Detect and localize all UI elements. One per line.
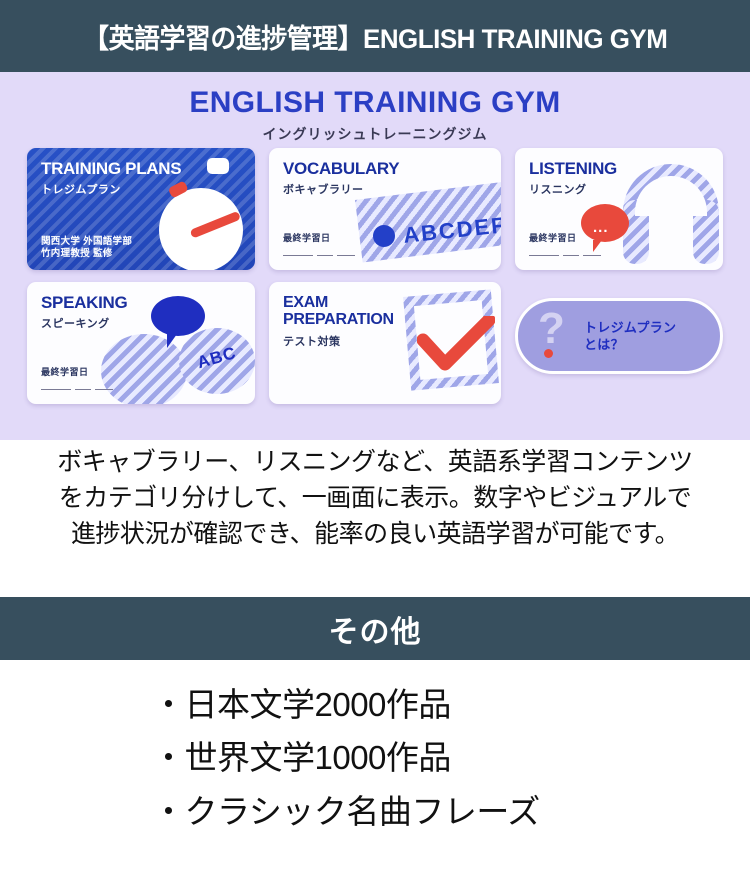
question-mark-icon: ? (538, 307, 565, 351)
brand-block: ENGLISH TRAINING GYM イングリッシュトレーニングジム (0, 72, 750, 144)
card-title: SPEAKING (41, 294, 127, 311)
question-mark-dot-icon (544, 349, 553, 358)
list-item: ・世界文学1000作品 (152, 731, 750, 784)
card-exam-preparation[interactable]: EXAM PREPARATION テスト対策 (269, 282, 501, 404)
card-row: ABC SPEAKING スピーキング 最終学習日 EXAM PREPARAT (27, 282, 723, 404)
what-is-trejim-plan-button[interactable]: ? トレジムプラン とは？ (515, 298, 723, 374)
last-study-date (41, 384, 117, 394)
card-grid: TRAINING PLANS トレジムプラン 関西大学 外国語学部 竹内理教授 … (27, 148, 723, 416)
last-study-label: 最終学習日 (283, 231, 331, 244)
card-credit: 関西大学 外国語学部 竹内理教授 監修 (41, 236, 132, 260)
speech-bubble-icon (151, 296, 205, 336)
description-line1: ボキャブラリー、リスニングなど、英語系学習コンテンツ (0, 444, 750, 480)
card-subtitle: トレジムプラン (41, 181, 121, 197)
card-row: TRAINING PLANS トレジムプラン 関西大学 外国語学部 竹内理教授 … (27, 148, 723, 270)
page-header: 【英語学習の進捗管理】ENGLISH TRAINING GYM (0, 0, 750, 72)
speech-bubble-dots: ... (593, 219, 609, 236)
question-button-line1: トレジムプラン (584, 319, 676, 336)
brand-title-jp: イングリッシュトレーニングジム (0, 124, 750, 144)
other-section-list: ・日本文学2000作品 ・世界文学1000作品 ・クラシック名曲フレーズ (0, 678, 750, 838)
card-subtitle: ボキャブラリー (283, 181, 364, 197)
card-training-plans[interactable]: TRAINING PLANS トレジムプラン 関西大学 外国語学部 竹内理教授 … (27, 148, 255, 270)
card-title: LISTENING (529, 160, 617, 177)
card-title: VOCABULARY (283, 160, 399, 177)
feature-panel: ENGLISH TRAINING GYM イングリッシュトレーニングジム TRA… (0, 72, 750, 440)
question-button-line2: とは？ (584, 336, 676, 353)
last-study-date (529, 250, 605, 260)
card-credit-line2: 竹内理教授 監修 (41, 248, 132, 260)
other-section-header: その他 (0, 597, 750, 660)
question-button-label: トレジムプラン とは？ (584, 319, 676, 353)
page-title: 【英語学習の進捗管理】ENGLISH TRAINING GYM (83, 17, 667, 56)
last-study-date (283, 250, 359, 260)
card-credit-line1: 関西大学 外国語学部 (41, 236, 132, 248)
description-line3: 進捗状況が確認でき、能率の良い英語学習が可能です。 (0, 516, 750, 552)
card-subtitle: スピーキング (41, 315, 110, 331)
description-line2: をカテゴリ分けして、一画面に表示。数字やビジュアルで (0, 480, 750, 516)
card-title-line1: EXAM (283, 294, 394, 311)
last-study-label: 最終学習日 (529, 231, 577, 244)
page-root: 【英語学習の進捗管理】ENGLISH TRAINING GYM ENGLISH … (0, 0, 750, 885)
card-title: EXAM PREPARATION (283, 294, 394, 329)
vocabulary-dot-icon (373, 225, 395, 247)
card-listening[interactable]: ... LISTENING リスニング 最終学習日 (515, 148, 723, 270)
checkmark-icon (417, 316, 495, 374)
other-section-title: その他 (329, 607, 422, 651)
list-item: ・日本文学2000作品 (152, 678, 750, 731)
card-subtitle: リスニング (529, 181, 587, 197)
question-button-wrap: ? トレジムプラン とは？ (515, 282, 723, 404)
card-subtitle: テスト対策 (283, 333, 341, 349)
card-speaking[interactable]: ABC SPEAKING スピーキング 最終学習日 (27, 282, 255, 404)
brand-title-en: ENGLISH TRAINING GYM (0, 86, 750, 120)
card-vocabulary[interactable]: ABCDEF. VOCABULARY ボキャブラリー 最終学習日 (269, 148, 501, 270)
description-text: ボキャブラリー、リスニングなど、英語系学習コンテンツ をカテゴリ分けして、一画面… (0, 444, 750, 552)
card-title: TRAINING PLANS (41, 160, 181, 177)
card-title-line2: PREPARATION (283, 311, 394, 328)
list-item: ・クラシック名曲フレーズ (152, 785, 750, 838)
last-study-label: 最終学習日 (41, 365, 89, 378)
